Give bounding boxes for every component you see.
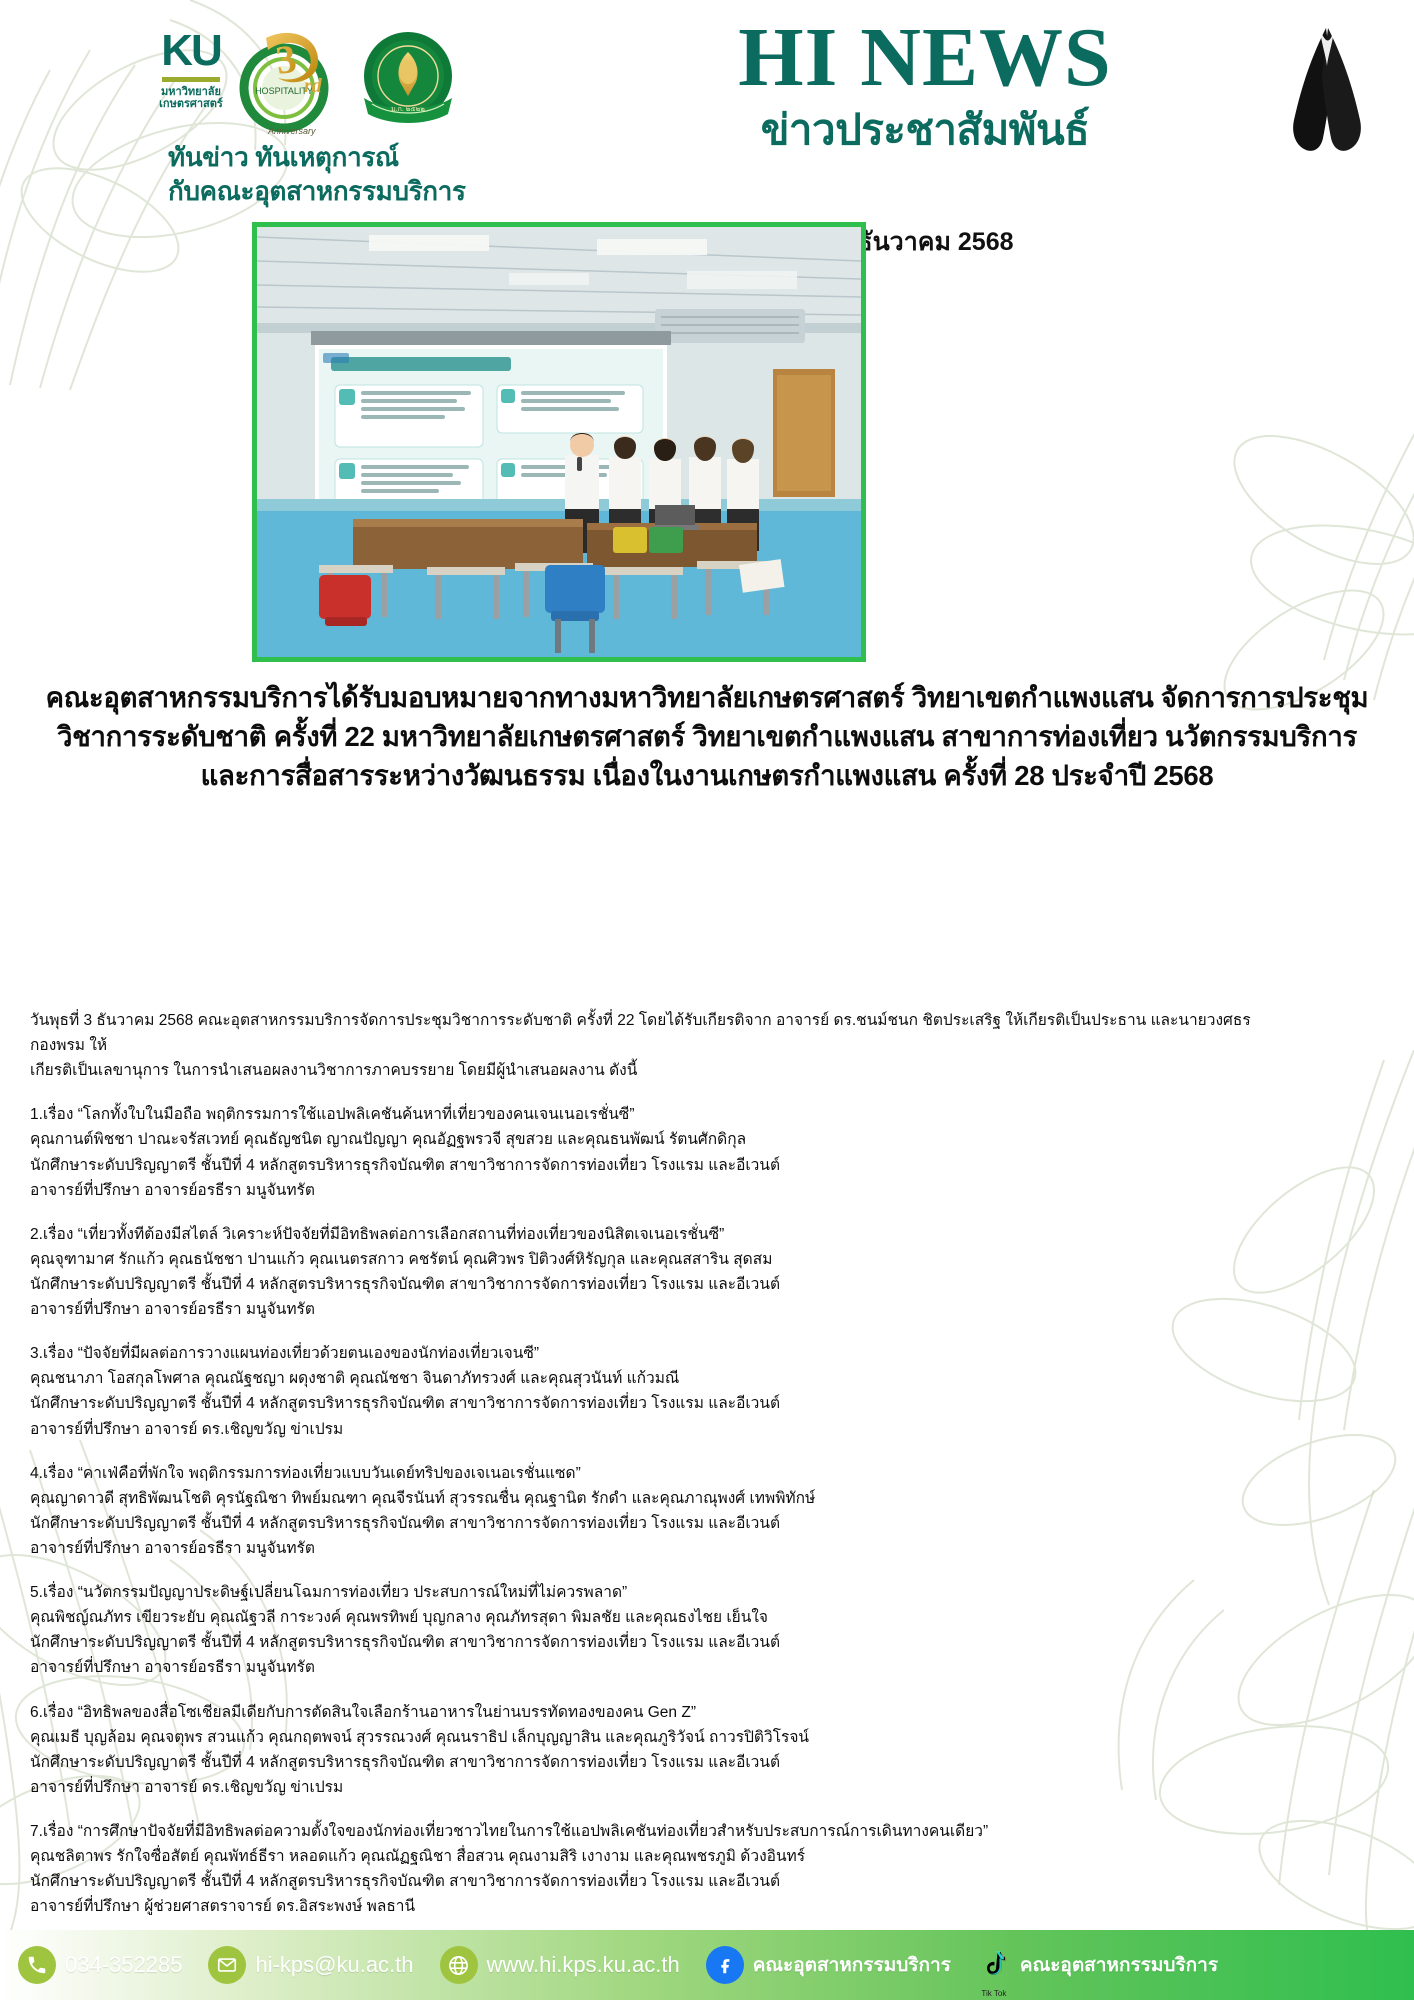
presentation-entry: 3.เรื่อง “ปัจจัยที่มีผลต่อการวางแผนท่องเ…	[30, 1341, 1260, 1441]
newsletter-page: KU มหาวิทยาลัย เกษตรศาสตร์	[0, 0, 1414, 2000]
footer-website[interactable]: www.hi.kps.ku.ac.th	[440, 1946, 680, 1984]
logo-group: KU มหาวิทยาลัย เกษตรศาสตร์	[148, 26, 464, 138]
entry-program: นักศึกษาระดับปริญญาตรี ชั้นปีที่ 4 หลักส…	[30, 1391, 1260, 1416]
presentation-entry: 2.เรื่อง “เที่ยวทั้งทีต้องมีสไตล์ วิเครา…	[30, 1222, 1260, 1322]
entry-program: นักศึกษาระดับปริญญาตรี ชั้นปีที่ 4 หลักส…	[30, 1511, 1260, 1536]
entry-title: 2.เรื่อง “เที่ยวทั้งทีต้องมีสไตล์ วิเครา…	[30, 1222, 1260, 1247]
contact-footer: 034-352285 hi-kps@ku.ac.th www.hi.kps.ku…	[0, 1930, 1414, 2000]
tagline-line-1: ทันข่าว ทันเหตุการณ์	[168, 140, 466, 174]
entry-authors: คุณพิชญ์ณภัทร เขียวระยับ คุณณัฐวลี การะว…	[30, 1605, 1260, 1630]
tiktok-account-name: คณะอุตสาหกรรมบริการ	[1020, 1950, 1218, 1980]
presentation-entry: 7.เรื่อง “การศึกษาปัจจัยที่มีอิทธิพลต่อค…	[30, 1819, 1260, 1919]
svg-text:rd: rd	[304, 75, 323, 97]
entry-program: นักศึกษาระดับปริญญาตรี ชั้นปีที่ 4 หลักส…	[30, 1153, 1260, 1178]
email-icon	[208, 1946, 246, 1984]
intro-paragraph: วันพุธที่ 3 ธันวาคม 2568 คณะอุตสาหกรรมบร…	[30, 1008, 1260, 1083]
entry-program: นักศึกษาระดับปริญญาตรี ชั้นปีที่ 4 หลักส…	[30, 1750, 1260, 1775]
entry-program: นักศึกษาระดับปริญญาตรี ชั้นปีที่ 4 หลักส…	[30, 1869, 1260, 1894]
faculty-seal-icon: ม.ก. ๒๕๒๒	[352, 26, 464, 138]
svg-text:ม.ก. ๒๕๒๒: ม.ก. ๒๕๒๒	[391, 106, 425, 113]
phone-number: 034-352285	[65, 1952, 182, 1978]
tagline: ทันข่าว ทันเหตุการณ์ กับคณะอุตสาหกรรมบริ…	[168, 140, 466, 209]
footer-email[interactable]: hi-kps@ku.ac.th	[208, 1946, 413, 1984]
mourning-ribbon-icon	[1284, 22, 1370, 154]
news-photo-content	[257, 227, 861, 657]
entry-authors: คุณญาดาวดี สุทธิพัฒนโชติ คุรนัฐณิชา ทิพย…	[30, 1486, 1260, 1511]
ku-logo-thai-line2: เกษตรศาสตร์	[148, 98, 234, 111]
news-body: วันพุธที่ 3 ธันวาคม 2568 คณะอุตสาหกรรมบร…	[30, 1008, 1260, 1964]
entry-advisor: อาจารย์ที่ปรึกษา อาจารย์ ดร.เชิญขวัญ ข่า…	[30, 1417, 1260, 1442]
intro-line-2: เกียรติเป็นเลขานุการ ในการนำเสนอผลงานวิช…	[30, 1058, 1260, 1083]
entry-advisor: อาจารย์ที่ปรึกษา อาจารย์อรธีรา มนูจันทรั…	[30, 1655, 1260, 1680]
website-url: www.hi.kps.ku.ac.th	[487, 1952, 680, 1978]
presentation-entry: 5.เรื่อง “นวัตกรรมปัญญาประดิษฐ์เปลี่ยนโฉ…	[30, 1580, 1260, 1680]
entry-title: 6.เรื่อง “อิทธิพลของสื่อโซเชียลมีเดียกับ…	[30, 1700, 1260, 1725]
intro-line-1: วันพุธที่ 3 ธันวาคม 2568 คณะอุตสาหกรรมบร…	[30, 1008, 1260, 1058]
entry-authors: คุณกานต์พิชชา ปาณะจรัสเวทย์ คุณธัญชนิต ญ…	[30, 1127, 1260, 1152]
entry-advisor: อาจารย์ที่ปรึกษา อาจารย์อรธีรา มนูจันทรั…	[30, 1178, 1260, 1203]
ku-logo-thai-line1: มหาวิทยาลัย	[148, 86, 234, 99]
anniversary-word: Anniversary	[268, 126, 316, 136]
globe-icon	[440, 1946, 478, 1984]
tiktok-label: Tik Tok	[981, 1989, 1006, 1998]
masthead-title: HI NEWS	[600, 18, 1250, 99]
masthead-subtitle: ข่าวประชาสัมพันธ์	[600, 97, 1250, 163]
entry-advisor: อาจารย์ที่ปรึกษา ผู้ช่วยศาสตราจารย์ ดร.อ…	[30, 1894, 1260, 1919]
presentation-entry: 6.เรื่อง “อิทธิพลของสื่อโซเชียลมีเดียกับ…	[30, 1700, 1260, 1800]
entry-program: นักศึกษาระดับปริญญาตรี ชั้นปีที่ 4 หลักส…	[30, 1630, 1260, 1655]
anniversary-badge-icon: HOSPITALITY 3 rd Anniversary	[238, 26, 348, 138]
entry-program: นักศึกษาระดับปริญญาตรี ชั้นปีที่ 4 หลักส…	[30, 1272, 1260, 1297]
footer-tiktok[interactable]: Tik Tok คณะอุตสาหกรรมบริการ	[977, 1946, 1218, 1984]
entry-title: 4.เรื่อง “คาเฟ่คือที่พักใจ พฤติกรรมการท่…	[30, 1461, 1260, 1486]
entry-authors: คุณเมธี บุญล้อม คุณจตุพร สวนแก้ว คุณกฤตพ…	[30, 1725, 1260, 1750]
ku-logo-letters: KU	[148, 30, 234, 72]
presentation-entry: 4.เรื่อง “คาเฟ่คือที่พักใจ พฤติกรรมการท่…	[30, 1461, 1260, 1561]
entry-authors: คุณชนาภา โอสกุลโพศาล คุณณัฐชญา ผดุงชาติ …	[30, 1366, 1260, 1391]
entry-title: 1.เรื่อง “โลกทั้งใบในมือถือ พฤติกรรมการใ…	[30, 1102, 1260, 1127]
presentation-entry: 1.เรื่อง “โลกทั้งใบในมือถือ พฤติกรรมการใ…	[30, 1102, 1260, 1202]
entry-authors: คุณจุฑามาศ รักแก้ว คุณธนัชชา ปานแก้ว คุณ…	[30, 1247, 1260, 1272]
entry-title: 3.เรื่อง “ปัจจัยที่มีผลต่อการวางแผนท่องเ…	[30, 1341, 1260, 1366]
entry-advisor: อาจารย์ที่ปรึกษา อาจารย์อรธีรา มนูจันทรั…	[30, 1297, 1260, 1322]
news-photo	[252, 222, 866, 662]
ku-university-logo: KU มหาวิทยาลัย เกษตรศาสตร์	[148, 26, 234, 111]
entry-advisor: อาจารย์ที่ปรึกษา อาจารย์อรธีรา มนูจันทรั…	[30, 1536, 1260, 1561]
entry-title: 7.เรื่อง “การศึกษาปัจจัยที่มีอิทธิพลต่อค…	[30, 1819, 1260, 1844]
ku-logo-rule	[162, 77, 220, 82]
news-headline: คณะอุตสาหกรรมบริการได้รับมอบหมายจากทางมห…	[30, 678, 1384, 795]
footer-phone[interactable]: 034-352285	[18, 1946, 182, 1984]
phone-icon	[18, 1946, 56, 1984]
masthead: HI NEWS ข่าวประชาสัมพันธ์	[600, 18, 1250, 163]
entry-advisor: อาจารย์ที่ปรึกษา อาจารย์ ดร.เชิญขวัญ ข่า…	[30, 1775, 1260, 1800]
facebook-icon	[706, 1946, 744, 1984]
tiktok-icon: Tik Tok	[977, 1946, 1011, 1984]
email-address: hi-kps@ku.ac.th	[255, 1952, 413, 1978]
footer-facebook[interactable]: คณะอุตสาหกรรมบริการ	[706, 1946, 951, 1984]
facebook-page-name: คณะอุตสาหกรรมบริการ	[753, 1950, 951, 1980]
entry-authors: คุณชลิตาพร รักใจซื่อสัตย์ คุณพัทธ์ธีรา ห…	[30, 1844, 1260, 1869]
entry-title: 5.เรื่อง “นวัตกรรมปัญญาประดิษฐ์เปลี่ยนโฉ…	[30, 1580, 1260, 1605]
tagline-line-2: กับคณะอุตสาหกรรมบริการ	[168, 174, 466, 208]
